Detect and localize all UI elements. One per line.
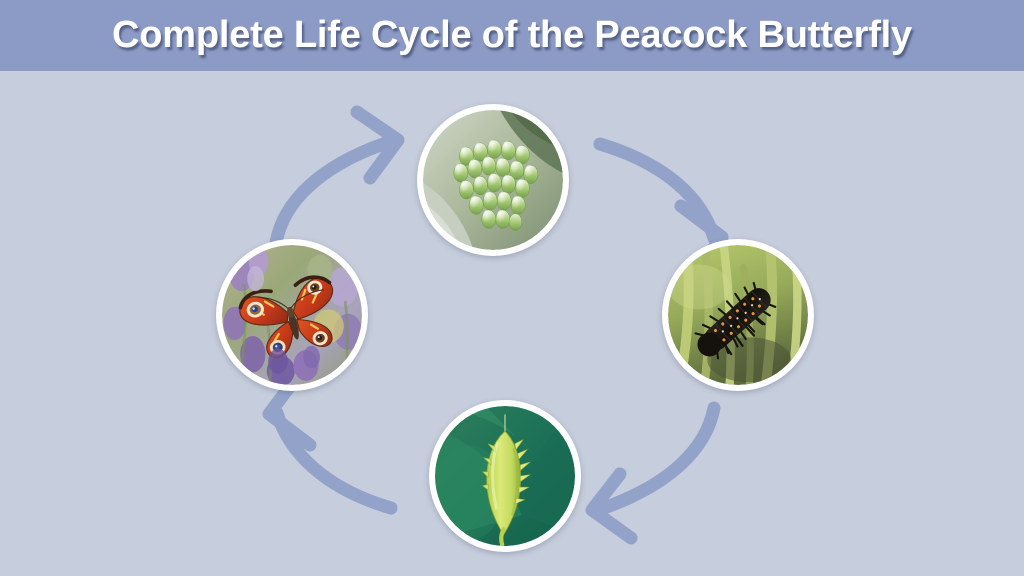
life-cycle-stage-chrysalis[interactable]	[429, 400, 581, 552]
arrow-right-to-bottom	[592, 408, 714, 538]
life-cycle-diagram	[0, 71, 1024, 576]
chrysalis-photo	[435, 406, 575, 546]
slide-canvas: Complete Life Cycle of the Peacock Butte…	[0, 0, 1024, 576]
arrow-left-to-top	[276, 112, 398, 243]
caterpillar-photo	[668, 245, 808, 385]
life-cycle-stage-egg[interactable]	[417, 104, 569, 256]
header-band: Complete Life Cycle of the Peacock Butte…	[0, 0, 1024, 71]
life-cycle-stage-caterpillar[interactable]	[662, 239, 814, 391]
butterfly-eggs-photo	[423, 110, 563, 250]
life-cycle-stage-adult-butterfly[interactable]	[216, 239, 368, 391]
adult-butterfly-photo	[222, 245, 362, 385]
arrow-bottom-to-left	[269, 378, 391, 508]
page-title: Complete Life Cycle of the Peacock Butte…	[112, 14, 912, 57]
